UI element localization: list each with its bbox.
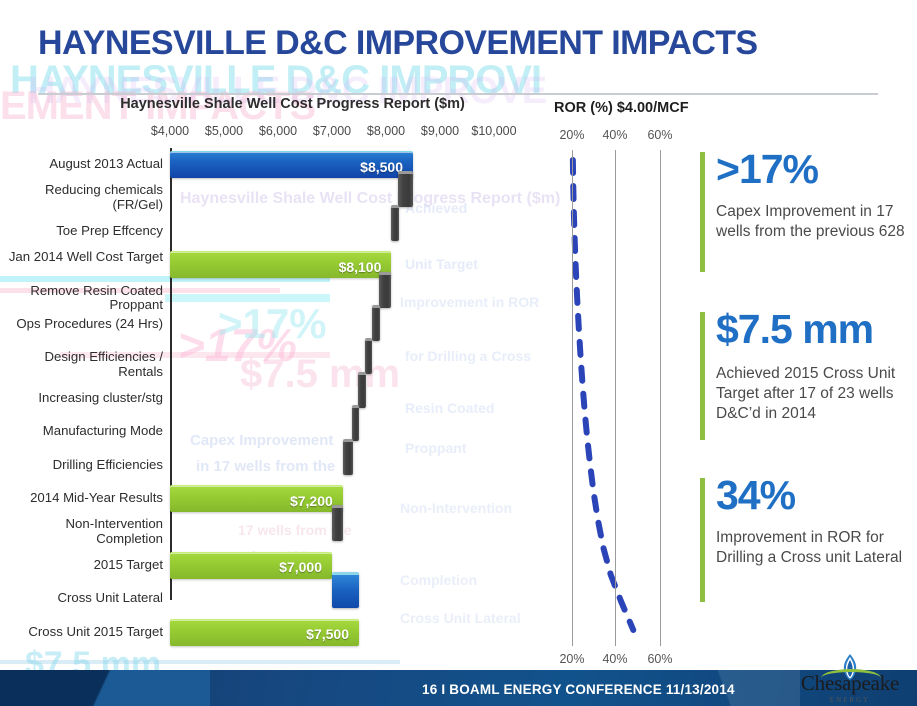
waterfall-row-label: 2014 Mid-Year Results (0, 491, 163, 506)
slide-root: HAYNESVILLE D&C IMPROVI EMENT IMPACTS HA… (0, 0, 917, 706)
ghost-band (0, 660, 400, 664)
waterfall-bar-value: $7,500 (306, 627, 349, 641)
waterfall-row-label: 2015 Target (0, 558, 163, 573)
waterfall-bar (398, 171, 413, 207)
ror-tick-label-top: 20% (559, 128, 584, 142)
ror-tick-label-top: 60% (647, 128, 672, 142)
waterfall-bar (372, 305, 380, 341)
waterfall-chart: Haynesville Shale Well Cost Progress Rep… (0, 96, 540, 652)
waterfall-bar-value: $7,200 (290, 494, 333, 508)
waterfall-tick-label: $9,000 (421, 124, 459, 138)
waterfall-bar: $8,100 (170, 251, 391, 278)
footer-wedge (0, 670, 210, 706)
waterfall-row-label: Jan 2014 Well Cost Target (0, 250, 163, 265)
ror-tick-label-bottom: 60% (647, 652, 672, 666)
waterfall-bar (391, 205, 399, 241)
waterfall-tick-label: $4,000 (151, 124, 189, 138)
waterfall-row-label: Drilling Efficiencies (0, 458, 163, 473)
waterfall-plot-area: August 2013 Actual$8,500Reducing chemica… (0, 148, 540, 648)
waterfall-bar (332, 505, 343, 541)
waterfall-bar: $7,500 (170, 619, 359, 646)
waterfall-bar (358, 372, 366, 408)
waterfall-bar: $7,000 (170, 552, 332, 579)
footer-text: 16 I BOAML ENERGY CONFERENCE 11/13/2014 (422, 682, 735, 697)
ror-gridline (572, 150, 573, 646)
ror-gridline (660, 150, 661, 646)
waterfall-row-label: Remove Resin Coated Proppant (0, 284, 163, 313)
waterfall-bar: $8,500 (170, 151, 413, 178)
chesapeake-wordmark: Chesapeake (791, 671, 909, 696)
callout-accent-bar (700, 152, 705, 272)
waterfall-row-label: Ops Procedures (24 Hrs) (0, 317, 163, 332)
waterfall-tick-label: $10,000 (471, 124, 516, 138)
callout-body: Improvement in ROR for Drilling a Cross … (716, 528, 912, 568)
ror-gridline (615, 150, 616, 646)
waterfall-row-label: Design Efficiencies / Rentals (0, 350, 163, 379)
ror-tick-label-top: 40% (602, 128, 627, 142)
callout-headline: >17% (716, 146, 818, 193)
waterfall-chart-title: Haynesville Shale Well Cost Progress Rep… (0, 96, 540, 112)
waterfall-row-label: August 2013 Actual (0, 157, 163, 172)
waterfall-bar (332, 572, 359, 608)
waterfall-tick-label: $8,000 (367, 124, 405, 138)
ror-tick-label-bottom: 20% (559, 652, 584, 666)
waterfall-bar (343, 439, 353, 475)
callout-headline: $7.5 mm (716, 306, 873, 353)
callout-headline: 34% (716, 472, 795, 519)
ror-line-series (548, 150, 688, 650)
ror-dashed-line (573, 160, 633, 630)
waterfall-bar (365, 338, 372, 374)
waterfall-bar: $7,200 (170, 485, 343, 512)
waterfall-baseline (170, 148, 172, 600)
waterfall-bar-value: $8,100 (339, 260, 382, 274)
callout-accent-bar (700, 478, 705, 602)
ror-chart-title: ROR (%) $4.00/MCF (554, 100, 689, 116)
waterfall-tick-label: $6,000 (259, 124, 297, 138)
waterfall-tick-label: $7,000 (313, 124, 351, 138)
waterfall-row-label: Reducing chemicals (FR/Gel) (0, 183, 163, 212)
waterfall-row-label: Cross Unit 2015 Target (0, 625, 163, 640)
callout-body: Achieved 2015 Cross Unit Target after 17… (716, 364, 912, 424)
page-title: HAYNESVILLE D&C IMPROVEMENT IMPACTS (38, 24, 758, 63)
waterfall-row-label: Cross Unit Lateral (0, 591, 163, 606)
waterfall-tick-label: $5,000 (205, 124, 243, 138)
waterfall-x-axis: $4,000$5,000$6,000$7,000$8,000$9,000$10,… (146, 124, 526, 142)
ror-tick-label-bottom: 40% (602, 652, 627, 666)
waterfall-row-label: Non-Intervention Completion (0, 517, 163, 546)
waterfall-row-label: Manufacturing Mode (0, 424, 163, 439)
waterfall-bar-value: $7,000 (279, 560, 322, 574)
chesapeake-subtitle: ENERGY (791, 696, 909, 704)
title-divider (38, 93, 878, 95)
waterfall-bar (352, 405, 359, 441)
waterfall-row-label: Increasing cluster/stg (0, 391, 163, 406)
waterfall-row-label: Toe Prep Effcency (0, 224, 163, 239)
chesapeake-logo: Chesapeake ENERGY (791, 654, 909, 704)
callout-accent-bar (700, 312, 705, 440)
footer-bar: 16 I BOAML ENERGY CONFERENCE 11/13/2014 (0, 670, 917, 706)
waterfall-bar-value: $8,500 (360, 160, 403, 174)
waterfall-bar (379, 272, 391, 308)
ror-chart: ROR (%) $4.00/MCF 20%20%40%40%60%60% (548, 100, 688, 670)
callout-body: Capex Improvement in 17 wells from the p… (716, 202, 912, 242)
